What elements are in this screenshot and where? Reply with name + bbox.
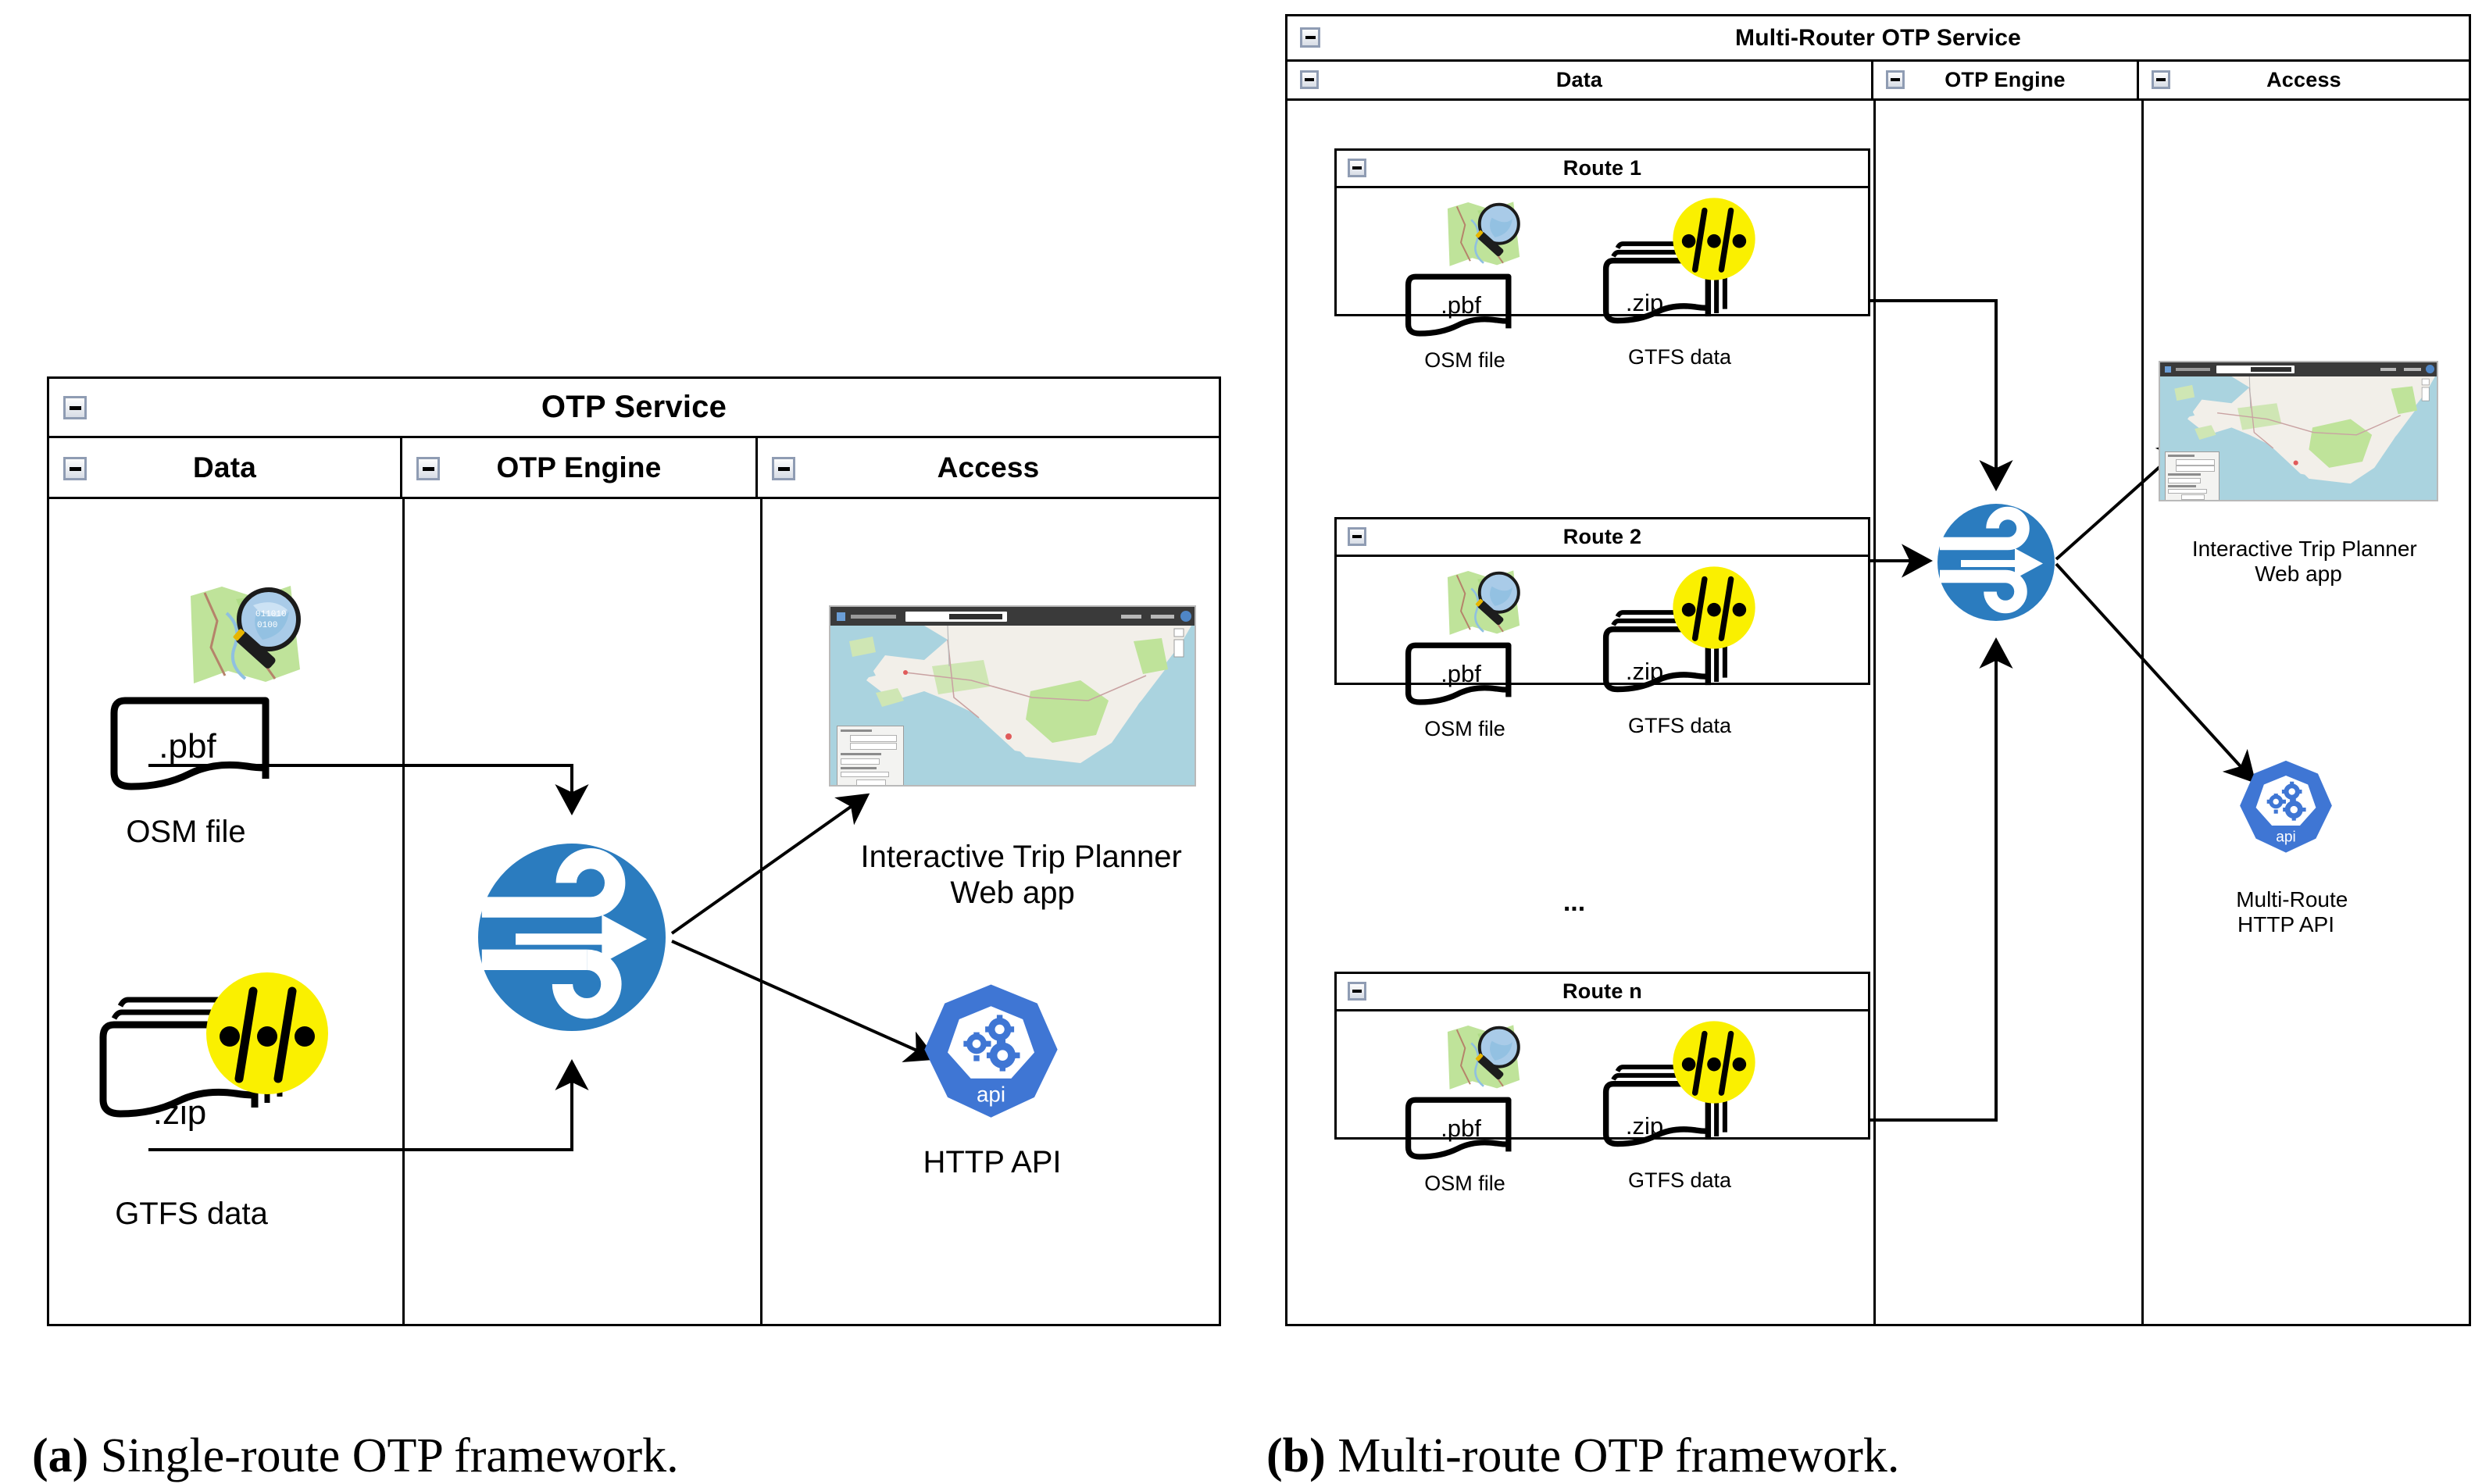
minus-box-icon[interactable] [1348,527,1366,546]
column-title-data: Data [193,451,256,484]
http-api-label: HTTP API [867,1144,1117,1180]
minus-box-icon[interactable] [2152,70,2170,89]
gtfs-data-label: GTFS data [1586,714,1773,738]
webapp-toolbar [830,607,1195,626]
routes-ellipsis: ... [1527,887,1621,918]
otp-service-column-headers: Data OTP Engine Access [49,438,1219,499]
osm-file-label: OSM file [1383,1172,1547,1196]
osm-file-ext-label: .pbf [1410,660,1512,688]
gtfs-data-label: GTFS data [62,1196,320,1232]
osm-map-magnifier-icon [1441,199,1529,276]
svg-text:011010: 011010 [255,610,287,619]
gtfs-yellow-badge-icon [1672,197,1756,281]
column-divider-2 [760,499,762,1324]
gtfs-file-ext-label: .zip [1594,289,1695,317]
caption-b-marker: (b) [1266,1429,1326,1482]
gtfs-file-ext-label: .zip [109,1093,250,1133]
multi-route-api-label: Multi-Route HTTP API [2184,862,2388,938]
webapp-toolbar [2160,362,2437,376]
caption-b-text: Multi-route OTP framework. [1326,1429,1900,1482]
column-header-access: Access [758,438,1219,499]
minus-box-icon[interactable] [1348,982,1366,1001]
otp-logo-icon [1937,504,2055,621]
api-badge-text: api [977,1082,1005,1106]
gtfs-data-label: GTFS data [1586,345,1773,369]
minus-box-icon[interactable] [1300,27,1320,48]
column-header-engine: OTP Engine [402,438,758,499]
multi-router-column-headers: Data OTP Engine Access [1287,62,2469,101]
minus-box-icon[interactable] [1886,70,1905,89]
gtfs-yellow-badge-icon [1672,565,1756,650]
gtfs-data-label: GTFS data [1586,1168,1773,1193]
caption-b: (b) Multi-route OTP framework. [1242,1373,1899,1484]
route-1-titlebar: Route 1 [1337,151,1868,188]
route-1-title: Route 1 [1563,156,1641,180]
column-divider-2 [2141,101,2144,1324]
otp-service-titlebar: OTP Service [49,379,1219,438]
webapp-trip-form[interactable] [837,726,904,787]
webapp-label: Interactive Trip Planner Web app [2137,512,2459,587]
osm-file-ext-label: .pbf [1410,291,1512,319]
osm-file-ext-label: .pbf [1410,1115,1512,1143]
osm-file-label: OSM file [1383,717,1547,741]
webapp-label-text: Interactive Trip Planner Web app [860,840,1181,910]
gtfs-yellow-badge-icon [205,971,330,1096]
route-n-title: Route n [1562,979,1642,1004]
column-header-data: Data [49,438,402,499]
osm-file-ext-label: .pbf [117,727,258,767]
trip-planner-screenshot-icon [2159,361,2438,501]
osm-file-label: OSM file [1383,348,1547,373]
route-2-titlebar: Route 2 [1337,519,1868,557]
caption-a-marker: (a) [32,1429,88,1482]
column-title-engine: OTP Engine [1945,68,2066,92]
caption-a-text: Single-route OTP framework. [88,1429,678,1482]
column-divider-1 [402,499,405,1324]
column-title-access: Access [2266,68,2341,92]
caption-a: (a) Single-route OTP framework. [8,1373,679,1484]
gtfs-file-ext-label: .zip [1594,1112,1695,1140]
svg-text:0100: 0100 [257,621,277,630]
minus-box-icon[interactable] [1300,70,1319,89]
otp-logo-icon [478,844,666,1031]
webapp-trip-form[interactable] [2165,451,2220,501]
minus-box-icon[interactable] [63,457,87,480]
api-hexagon-icon: api [919,980,1063,1125]
otp-service-title: OTP Service [541,390,727,425]
multi-router-service-title: Multi-Router OTP Service [1735,25,2021,52]
column-title-engine: OTP Engine [496,451,661,484]
minus-box-icon[interactable] [1348,159,1366,177]
gtfs-yellow-badge-icon [1672,1020,1756,1104]
webapp-label: Interactive Trip Planner Web app [813,803,1212,911]
api-hexagon-icon: api [2236,758,2336,858]
multi-route-api-label-text: Multi-Route HTTP API [2236,887,2348,936]
webapp-label-text: Interactive Trip Planner Web app [2192,537,2417,586]
minus-box-icon[interactable] [416,457,440,480]
osm-map-magnifier-icon: 011010 0100 [181,582,314,699]
osm-file-label: OSM file [69,814,303,850]
column-header-engine: OTP Engine [1873,62,2139,101]
gtfs-file-ext-label: .zip [1594,658,1695,686]
column-header-data: Data [1287,62,1873,101]
trip-planner-screenshot-icon [829,605,1196,787]
column-divider-1 [1873,101,1876,1324]
minus-box-icon[interactable] [63,396,87,419]
minus-box-icon[interactable] [772,457,795,480]
route-n-titlebar: Route n [1337,974,1868,1011]
osm-map-magnifier-icon [1441,568,1529,645]
column-title-data: Data [1556,68,1602,92]
osm-map-magnifier-icon [1441,1022,1529,1100]
column-header-access: Access [2139,62,2469,101]
route-2-title: Route 2 [1563,525,1641,549]
multi-router-service-titlebar: Multi-Router OTP Service [1287,16,2469,62]
api-badge-text: api [2276,829,2296,846]
column-title-access: Access [937,451,1040,484]
